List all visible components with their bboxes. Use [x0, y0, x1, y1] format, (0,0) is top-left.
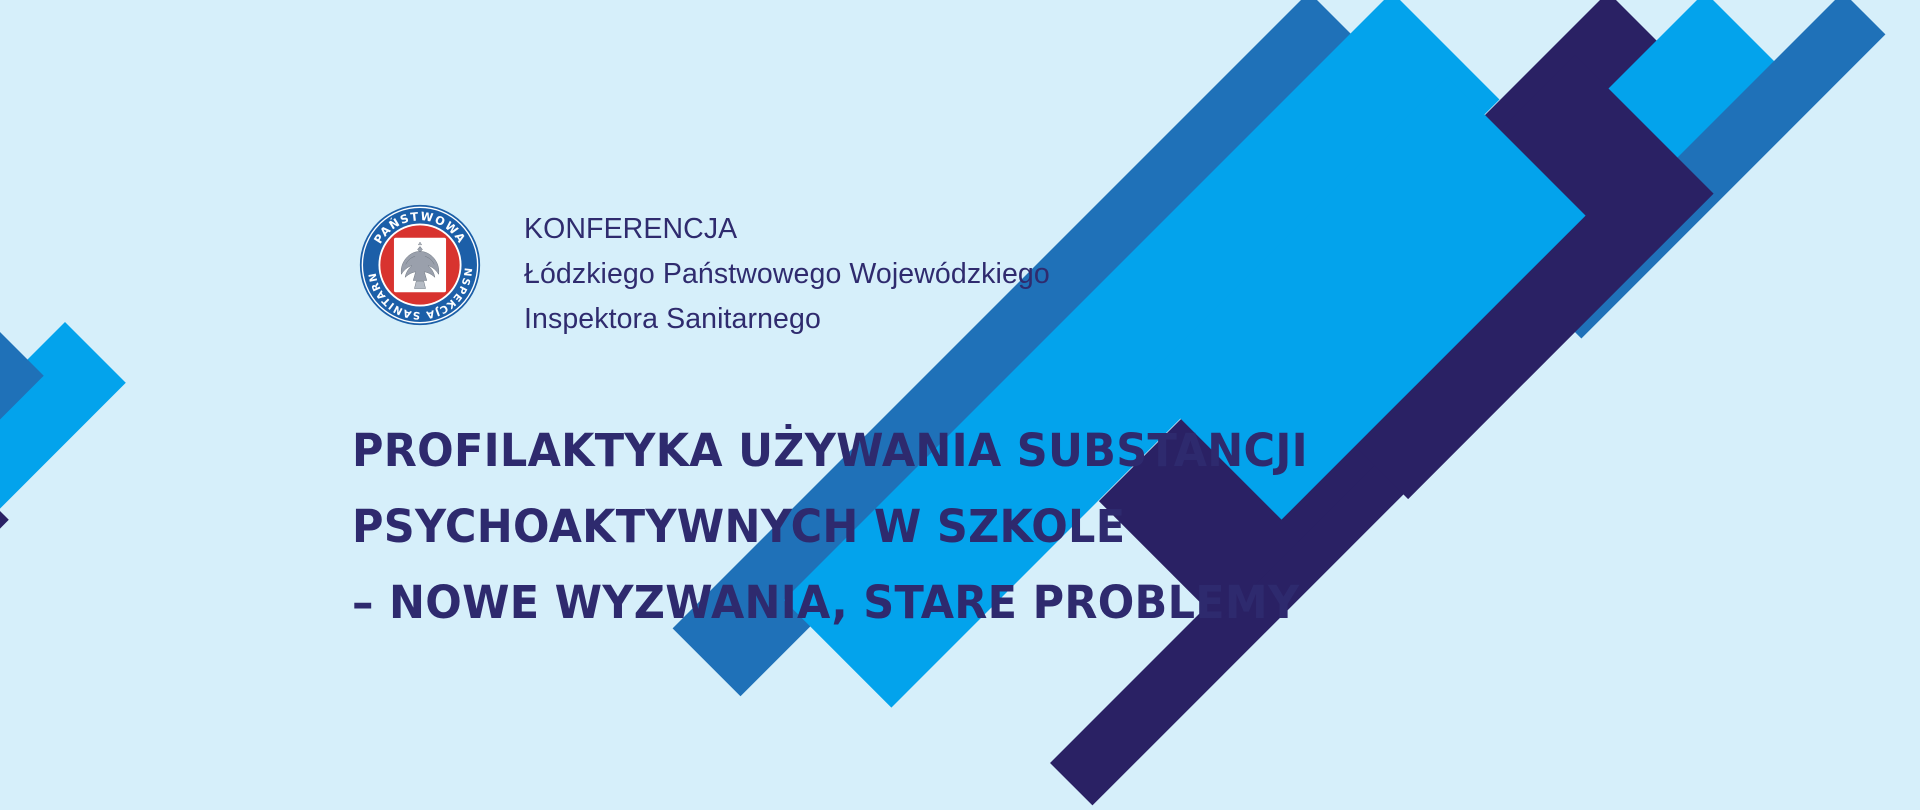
poster-title: PROFILAKTYKA UŻYWANIA SUBSTANCJI PSYCHOA… [352, 413, 1308, 641]
deco-rect-blue-bl [0, 322, 44, 680]
header-line-2: Łódzkiego Państwowego Wojewódzkiego [524, 252, 1050, 297]
deco-rect-navy-tr [1270, 55, 1714, 499]
deco-band-cyan-bl-1 [0, 322, 126, 810]
title-line-2: PSYCHOAKTYWNYCH W SZKOLE [352, 489, 1308, 565]
title-line-3: – NOWE WYZWANIA, STARE PROBLEMY [352, 565, 1308, 641]
header-line-3: Inspektora Sanitarnego [524, 297, 1050, 342]
conference-banner: PAŃSTWOWA INSPEKCJA SANITARNA KONFERENCJ… [0, 0, 1920, 810]
deco-band-blue-tr-2 [1539, 0, 1885, 338]
decoration-bottom-left [0, 0, 1920, 810]
decoration-top-right [0, 0, 1920, 810]
header-line-1: KONFERENCJA [524, 207, 1050, 252]
deco-band-cyan-tr-2 [1401, 0, 1797, 388]
panstwowa-inspekcja-sanitarna-logo: PAŃSTWOWA INSPEKCJA SANITARNA [358, 203, 482, 327]
deco-band-navy-bl-1 [0, 401, 9, 810]
conference-header: KONFERENCJA Łódzkiego Państwowego Wojewó… [524, 207, 1050, 342]
title-line-1: PROFILAKTYKA UŻYWANIA SUBSTANCJI [352, 413, 1308, 489]
